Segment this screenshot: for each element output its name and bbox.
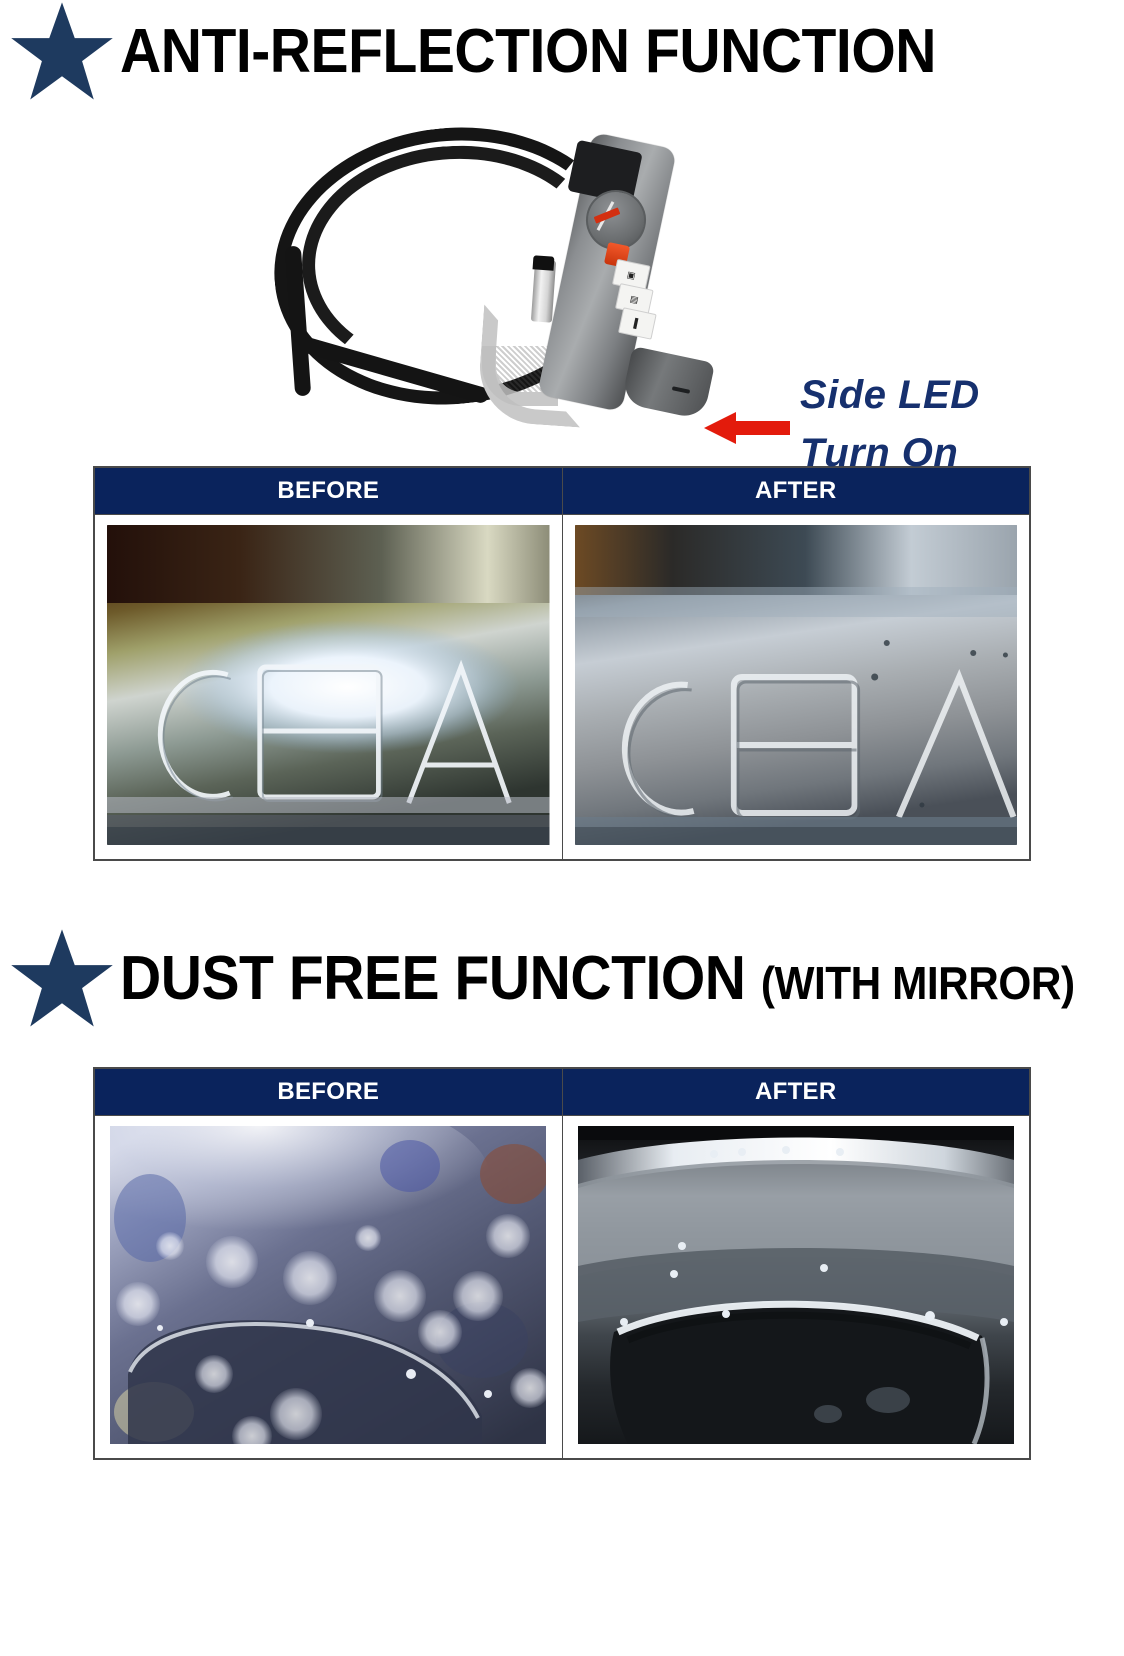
section-spacer xyxy=(0,861,1124,927)
star-icon xyxy=(8,927,116,1031)
page-title-dust-free-suffix: (WITH MIRROR) xyxy=(761,957,1075,1009)
page-title-dust-free-main: DUST FREE FUNCTION xyxy=(120,944,761,1013)
star-icon xyxy=(8,0,116,104)
column-header-before: BEFORE xyxy=(94,467,562,515)
page-title-dust-free: DUST FREE FUNCTION (WITH MIRROR) xyxy=(120,948,1075,1010)
comparison-table-anti-reflection: BEFORE AFTER xyxy=(93,466,1031,861)
column-header-before: BEFORE xyxy=(94,1068,562,1116)
page-title-anti-reflection: ANTI-REFLECTION FUNCTION xyxy=(120,21,936,83)
callout-line-1: Side LED xyxy=(800,366,980,424)
cell-before-dust: dark surface obscured by bright dust bok… xyxy=(94,1116,562,1460)
section-title-anti-reflection: ANTI-REFLECTION FUNCTION xyxy=(0,0,1124,104)
comparison-table-dust-free: BEFORE AFTER xyxy=(93,1067,1031,1460)
cell-before-glare: CBA embossed metal with strong glare blo… xyxy=(94,515,562,861)
cell-after-dust: clean dark surface with visible ridge, d… xyxy=(562,1116,1030,1460)
column-header-after: AFTER xyxy=(562,1068,1030,1116)
glare-metal-before-image xyxy=(107,525,550,845)
callout-line-2: Turn On xyxy=(800,424,980,482)
table-header-row: BEFORE AFTER xyxy=(94,1068,1030,1116)
table-row: CBA embossed metal with strong glare blo… xyxy=(94,515,1030,861)
side-led-callout: Side LED Turn On xyxy=(800,366,980,482)
glare-metal-after-image xyxy=(575,525,1018,845)
section-title-dust-free: DUST FREE FUNCTION (WITH MIRROR) xyxy=(0,927,1124,1031)
device-photo-block: ▣ ▤ ▌ Side LED Turn On xyxy=(0,116,1124,466)
dust-before-image xyxy=(110,1126,546,1444)
table-row: dark surface obscured by bright dust bok… xyxy=(94,1116,1030,1460)
cell-after-glare: CBA embossed metal clearly readable, gla… xyxy=(562,515,1030,861)
dust-after-image xyxy=(578,1126,1014,1444)
title-spacer xyxy=(0,1031,1124,1067)
